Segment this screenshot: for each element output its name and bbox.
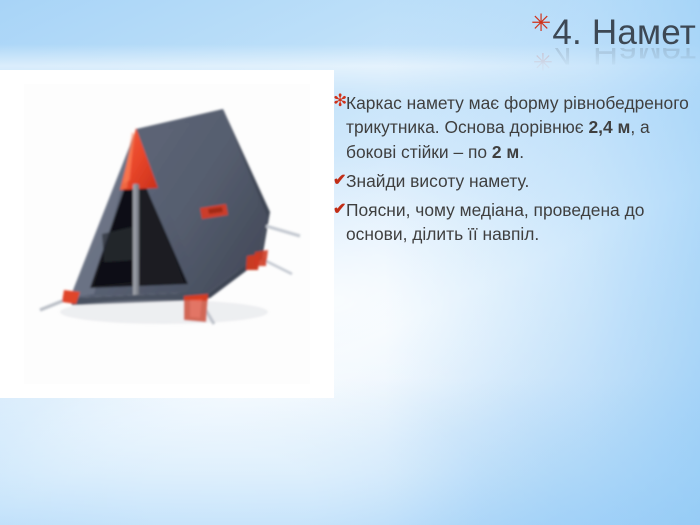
check-icon: ✔ [333,169,346,193]
slide-canvas: ✳4. Намет ✳4. Намет [0,0,700,525]
slide-title: ✳4. Намет ✳4. Намет [360,2,696,66]
tent-photograph [24,84,310,384]
check-icon: ✔ [333,198,346,222]
asterisk-icon: ✻ [333,89,347,113]
task-explain-median-text: Поясни, чому медіана, проведена до основ… [346,200,644,244]
picture-panel [0,70,334,398]
problem-tail-text: . [519,142,524,162]
asterisk-icon: ✳ [531,10,551,37]
page-title: 4. Намет [552,13,696,52]
problem-dash-text: – по [453,142,491,162]
side-length-value: 2 м [492,142,519,162]
paragraph-task-explain-median: ✔Поясни, чому медіана, проведена до осно… [333,198,695,247]
paragraph-problem-statement: ✻Каркас намету має форму рівнобедреного … [333,91,695,164]
task-find-height-text: Знайди висоту намету. [346,171,529,191]
base-length-value: 2,4 м [588,117,630,137]
paragraph-task-find-height: ✔Знайди висоту намету. [333,169,695,193]
title-row: ✳4. Намет [360,2,696,55]
body-text-block: ✻Каркас намету має форму рівнобедреного … [333,91,695,248]
